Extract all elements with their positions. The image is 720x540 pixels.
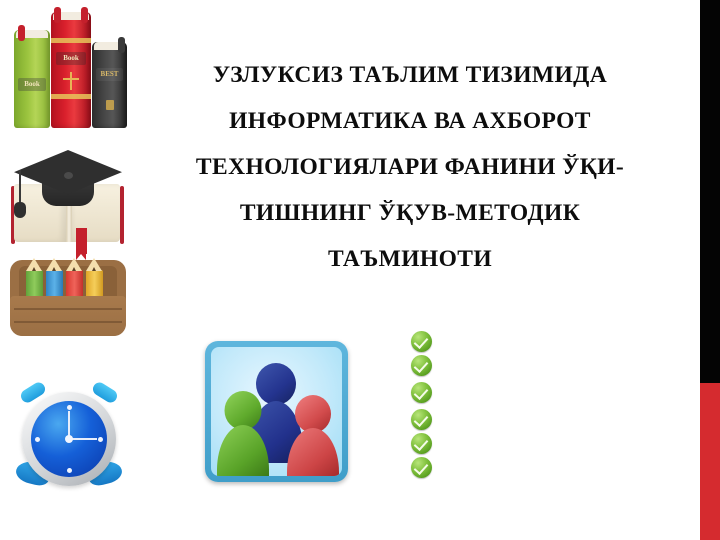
slide-canvas: Book Book BEST [0,0,720,540]
check-bullet-6 [411,457,432,478]
clock-face [31,401,107,477]
title-line-1: УЗЛУКСИЗ ТАЪЛИМ ТИЗИМИДА [152,52,668,98]
person-right [287,395,339,467]
books-icon: Book Book BEST [6,12,134,134]
person-right-body [287,428,339,476]
book-dark-emblem [106,100,114,110]
book-red-label: Book [56,52,86,65]
graduation-cap-book-icon [2,142,134,246]
book-green: Book [14,30,50,128]
right-edge-decoration [700,0,720,540]
book-red-headband-left [54,7,61,23]
alarm-clock-icon [12,378,128,506]
check-bullet-2 [411,355,432,376]
title-line-3: ТЕХНОЛОГИЯЛАРИ ФАНИНИ ЎҚИ- [152,144,668,190]
book-dark-label: BEST [96,68,123,81]
book-red-gold-band-top [51,38,91,43]
book-dark-headband [118,37,125,53]
clock-rim [22,392,116,486]
graduation-cap-tassel [14,202,26,218]
pencil-box-plank-2 [14,321,122,323]
person-left [217,391,269,465]
check-spacer-2 [411,376,437,382]
check-bullet-4 [411,409,432,430]
check-bullet-3 [411,382,432,403]
book-green-label: Book [18,78,45,91]
clock-center-pin [65,435,73,443]
graduation-cap-tassel-cord [19,170,21,204]
bookmark-ribbon-icon [76,228,87,254]
graduation-cap-button [64,172,73,179]
book-red-gold-band-bottom [51,94,91,99]
book-cover-right [120,186,124,244]
right-bar-black-segment [700,0,720,383]
group-of-people-icon [205,341,348,482]
book-red-headband-right [81,7,88,23]
check-bullet-1 [411,331,432,352]
page-title: УЗЛУКСИЗ ТАЪЛИМ ТИЗИМИДА ИНФОРМАТИКА ВА … [152,52,668,282]
title-line-4: ТИШНИНГ ЎҚУВ-МЕТОДИК [152,190,668,236]
clock-tick-6 [67,468,72,473]
title-line-5: ТАЪМИНОТИ [152,236,668,282]
pencil-green-tip [26,258,42,271]
clock-tick-9 [35,437,40,442]
book-green-headband [18,25,25,41]
pencil-box-front [10,296,126,336]
clock-hour-hand [69,438,97,440]
pencil-blue-tip [46,258,62,271]
colored-pencils-icon [10,252,126,338]
person-left-body [217,425,269,476]
book-dark: BEST [92,42,127,128]
book-red-emblem [70,72,72,90]
check-bullet-list [411,331,437,478]
right-bar-red-segment [700,383,720,540]
pencil-box-plank-1 [14,308,122,310]
book-red: Book [51,12,91,128]
pencil-red-tip [66,258,82,271]
group-image-inner [211,347,342,476]
check-spacer-3 [411,403,437,409]
title-line-2: ИНФОРМАТИКА ВА АХБОРОТ [152,98,668,144]
clock-tick-3 [98,437,103,442]
check-bullet-5 [411,433,432,454]
pencil-yellow-tip [86,258,102,271]
clock-tick-12 [67,405,72,410]
